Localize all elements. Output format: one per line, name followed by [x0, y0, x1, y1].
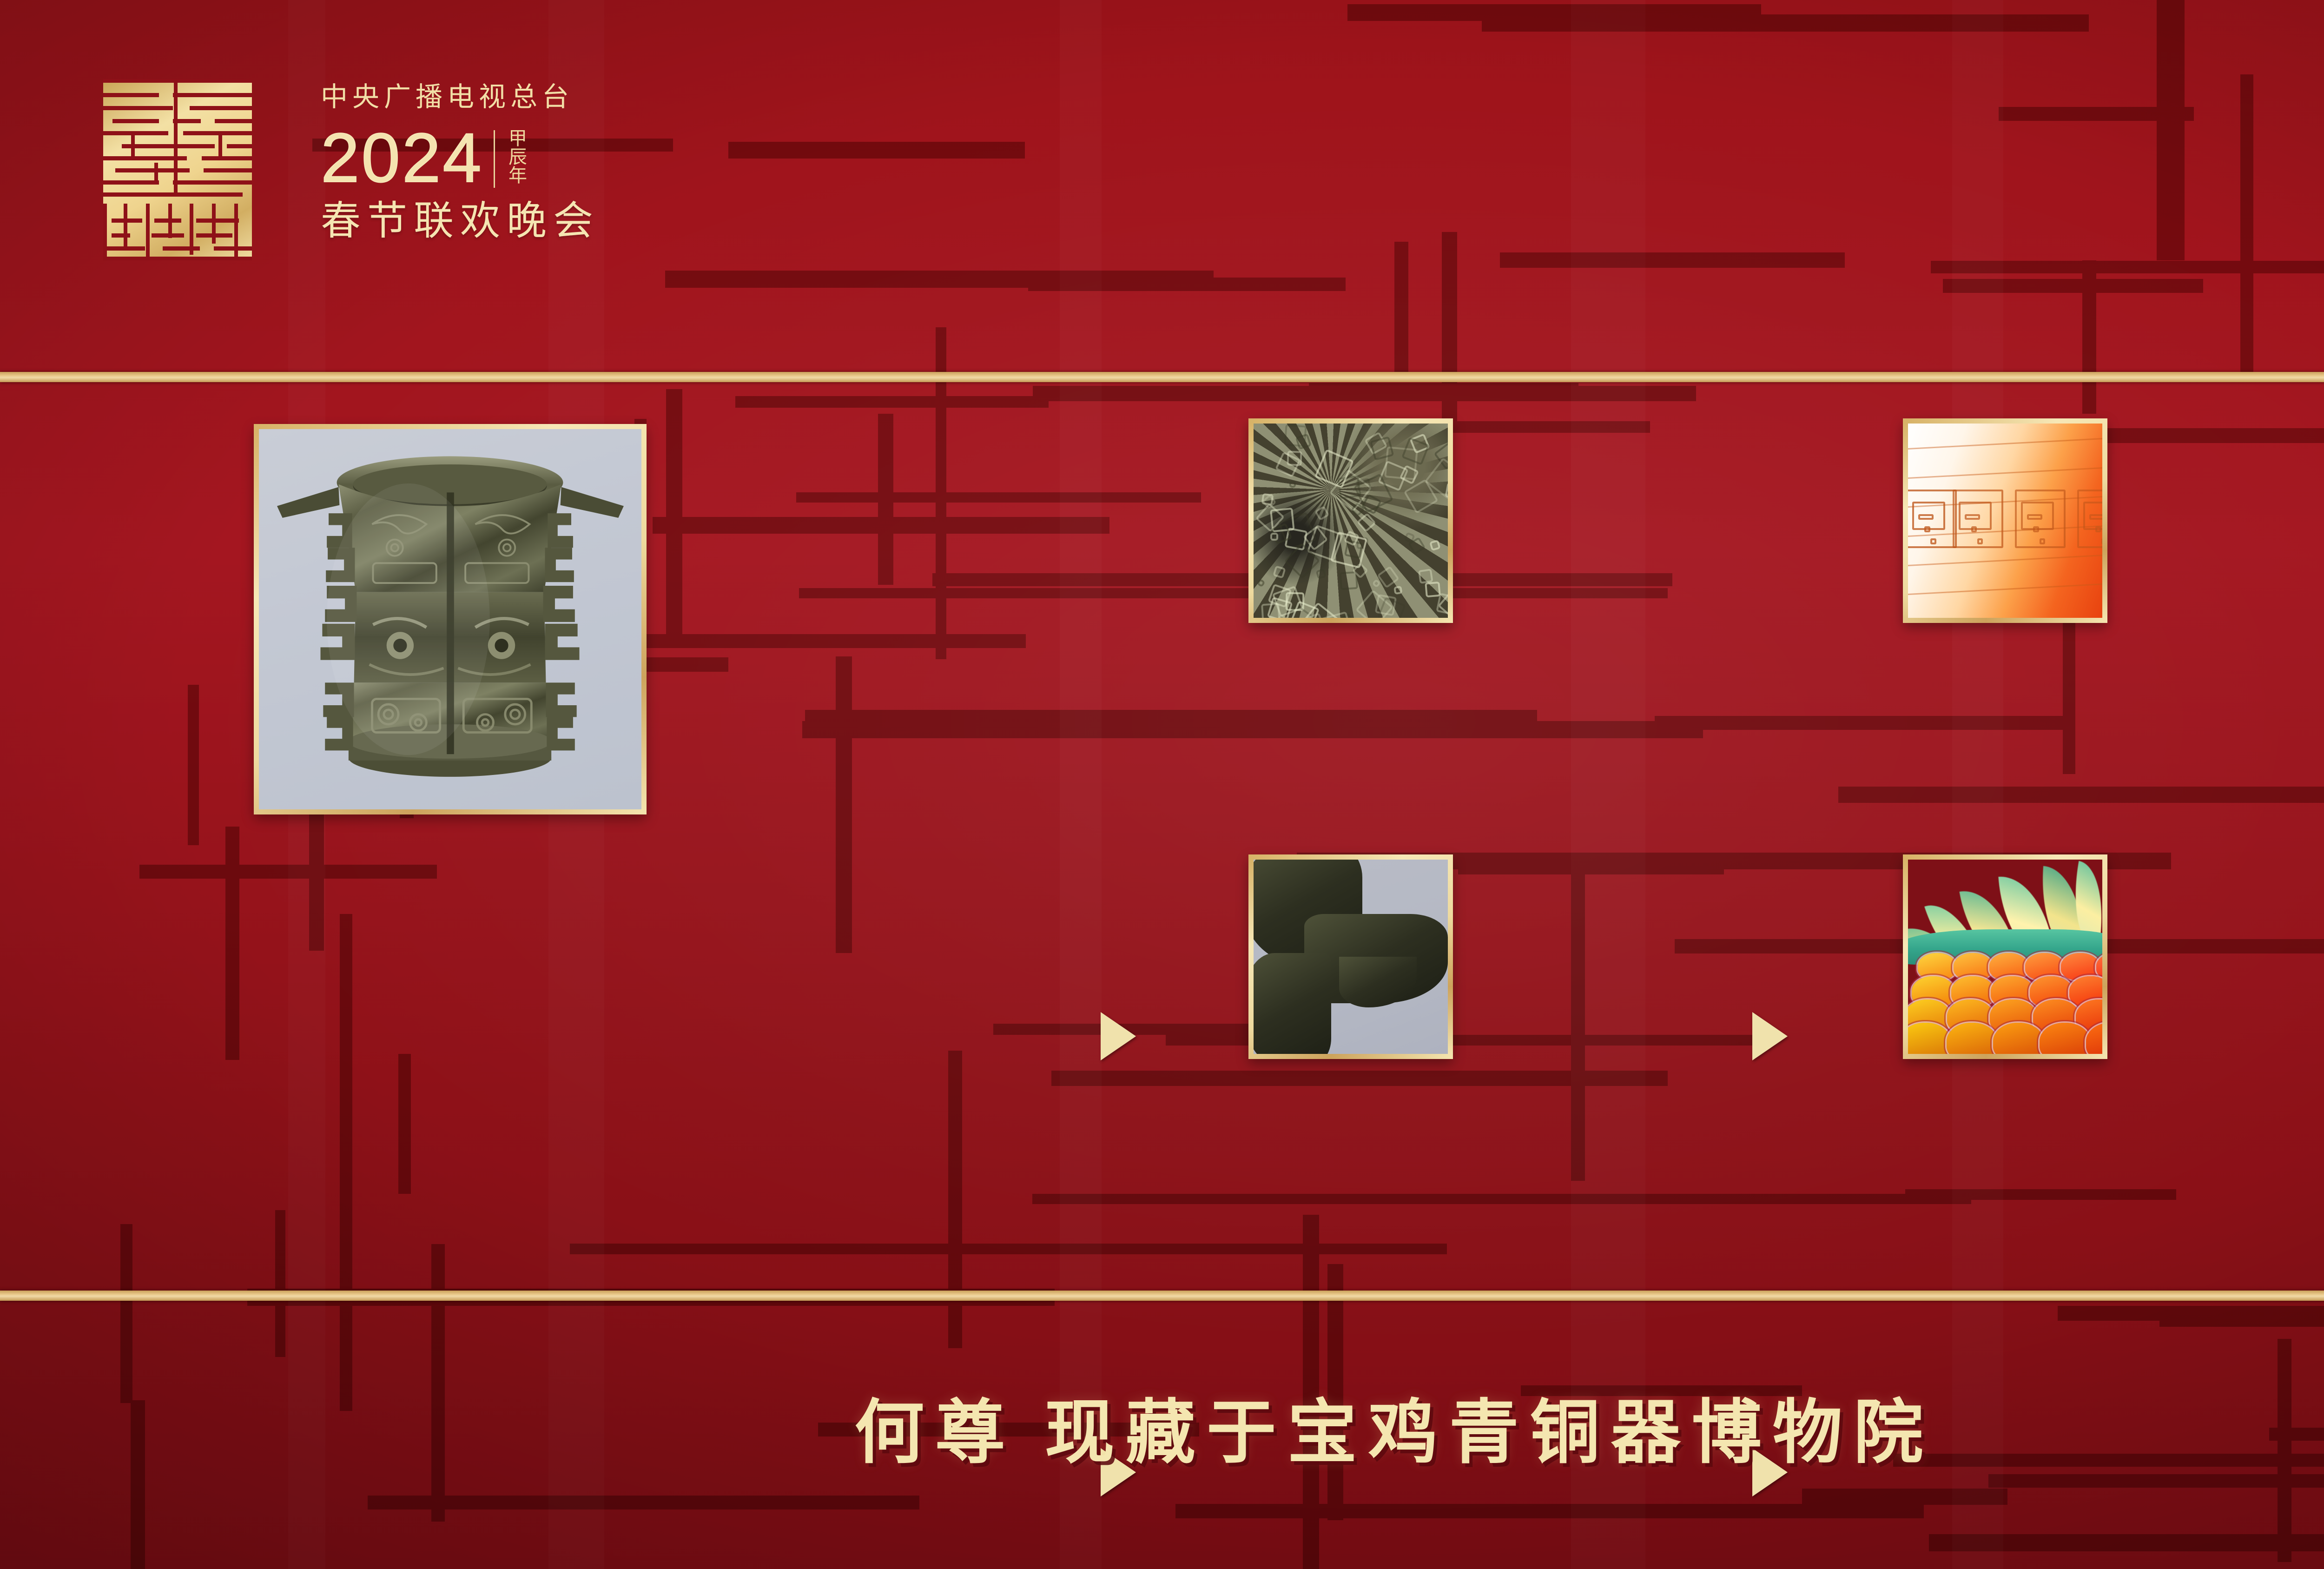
flange-texture — [1254, 860, 1448, 1054]
triangle-right-icon — [1101, 1012, 1136, 1060]
artifact-caption: 何尊 现藏于宝鸡青铜器博物院 — [0, 1376, 2324, 1477]
he-zun-vessel-photo — [254, 424, 647, 814]
year-row: 2024 甲辰年 — [321, 123, 786, 197]
bronze-flange-detail-photo — [1248, 854, 1453, 1059]
thumb1-inner — [1254, 424, 1448, 618]
bronze-taotie-spiral-detail-photo — [1248, 418, 1453, 623]
thumb3-inner — [1254, 860, 1448, 1054]
gala-title: 春节联欢晚会 — [321, 200, 786, 242]
bronze-spiral-texture — [1254, 424, 1448, 618]
header: 中央广播电视总台 2024 甲辰年 春节联欢晚会 央 视 新 闻 — [0, 0, 2324, 372]
year-separator-rule — [494, 130, 495, 188]
meander-artwork — [1908, 424, 2102, 618]
stylized-dragon-spine-art — [1903, 854, 2107, 1059]
thumb4-inner — [1908, 860, 2102, 1054]
vessel-illustration — [259, 429, 641, 809]
divider-top — [0, 372, 2324, 382]
dragon-spine-artwork — [1908, 860, 2102, 1054]
stylized-meander-pattern-art — [1903, 418, 2107, 623]
vessel-photo-inner — [259, 429, 641, 809]
organization-name: 中央广播电视总台 — [321, 84, 786, 111]
gala-seal-emblem-icon — [103, 79, 252, 260]
divider-bottom — [0, 1291, 2324, 1301]
gala-branding-text: 中央广播电视总台 2024 甲辰年 春节联欢晚会 — [321, 84, 786, 270]
thumb2-inner — [1908, 424, 2102, 618]
triangle-right-icon — [1752, 1012, 1788, 1060]
ganzhi-year-label: 甲辰年 — [506, 128, 526, 190]
gala-year: 2024 — [321, 119, 483, 197]
main-content: 龙 腹 龙 脊 — [0, 382, 2324, 1291]
